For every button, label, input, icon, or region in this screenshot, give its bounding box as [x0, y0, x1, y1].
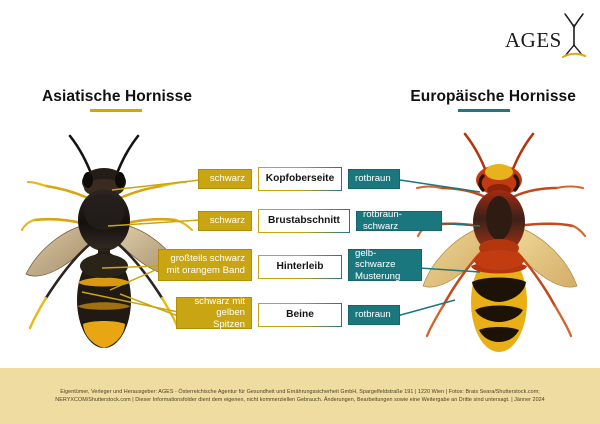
- feature-kopfoberseite: Kopfoberseite: [258, 167, 342, 191]
- asian-value-brustabschnitt: schwarz: [198, 211, 252, 231]
- asian-value-hinterleib: großteils schwarz mit orangem Band: [158, 249, 252, 281]
- european-value-brustabschnitt: rotbraun-schwarz: [356, 211, 442, 231]
- infographic-canvas: AGES Asiatische Hornisse Europäische Hor…: [0, 0, 600, 424]
- heading-underline-teal: [458, 109, 510, 112]
- feature-beine: Beine: [258, 303, 342, 327]
- european-value-kopfoberseite: rotbraun: [348, 169, 400, 189]
- heading-asian-hornet: Asiatische Hornisse: [42, 88, 192, 112]
- heading-underline-gold: [90, 109, 142, 112]
- european-hornet-photo: [415, 130, 590, 366]
- heading-asian-hornet-text: Asiatische Hornisse: [42, 88, 192, 105]
- feature-hinterleib: Hinterleib: [258, 255, 342, 279]
- footer-imprint-text: Eigentümer, Verleger und Herausgeber: AG…: [50, 388, 550, 405]
- heading-european-hornet-text: Europäische Hornisse: [410, 88, 576, 105]
- feature-brustabschnitt: Brustabschnitt: [258, 209, 350, 233]
- logo-wordmark: AGES: [505, 28, 562, 53]
- heading-european-hornet: Europäische Hornisse: [410, 88, 576, 112]
- asian-value-kopfoberseite: schwarz: [198, 169, 252, 189]
- asian-hornet-photo: [20, 132, 195, 364]
- european-value-beine: rotbraun: [348, 305, 400, 325]
- footer-imprint-band: Eigentümer, Verleger und Herausgeber: AG…: [0, 368, 600, 424]
- european-value-hinterleib: gelb-schwarze Musterung: [348, 249, 422, 281]
- human-figure-icon: [561, 12, 587, 60]
- ages-logo: AGES: [505, 12, 583, 62]
- asian-value-beine: schwarz mit gelben Spitzen: [176, 297, 252, 329]
